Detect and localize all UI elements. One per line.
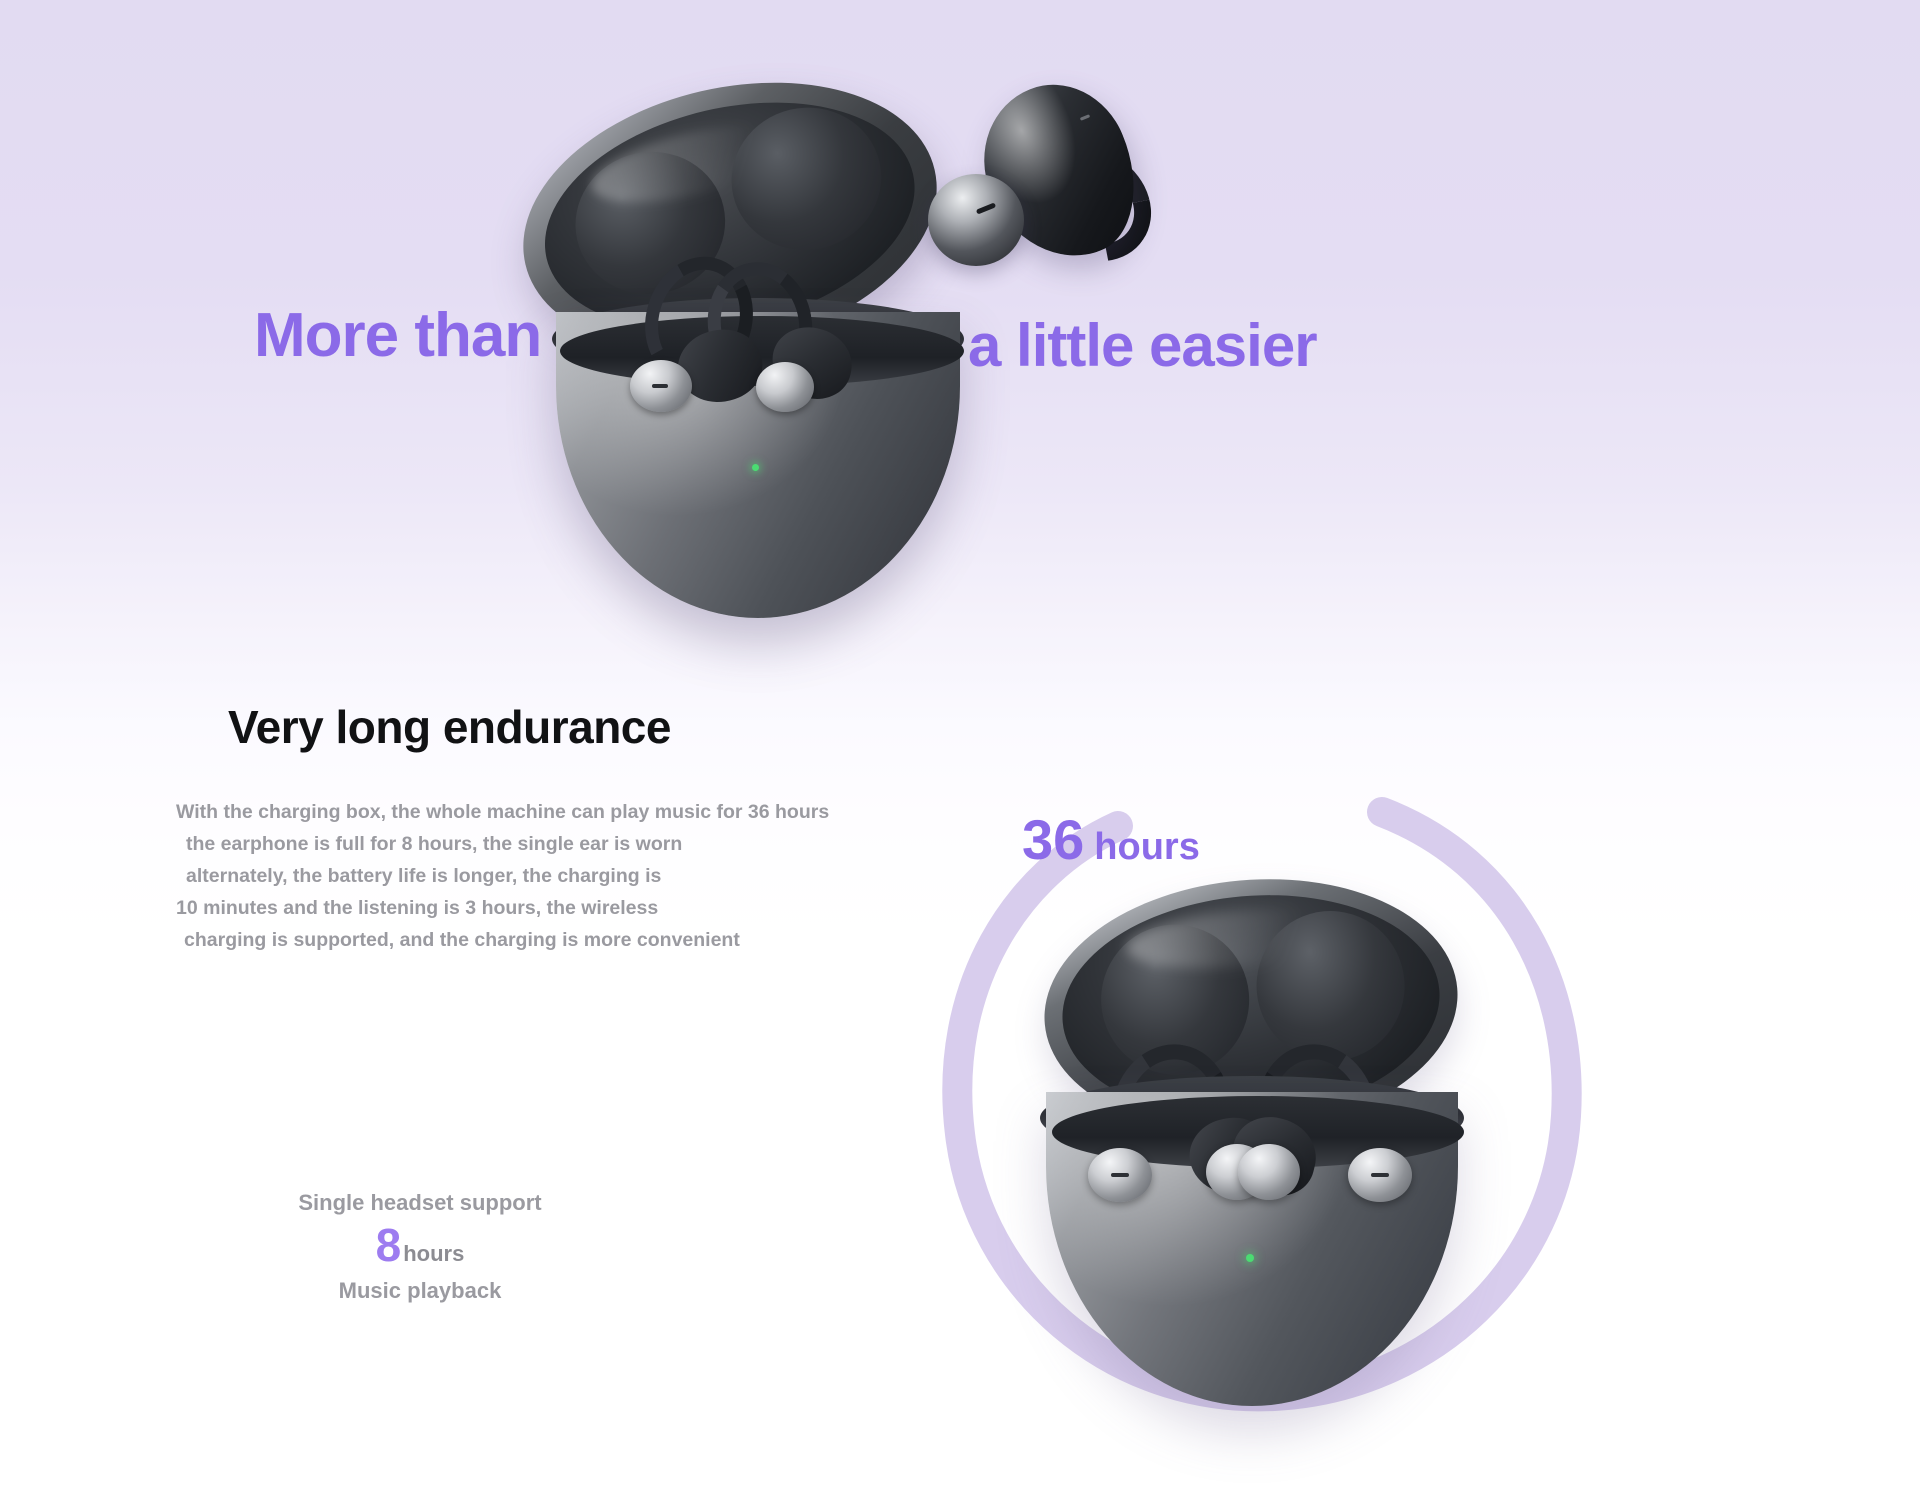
status-led-indicator bbox=[752, 464, 759, 471]
endurance-description: With the charging box, the whole machine… bbox=[176, 796, 996, 956]
stat-subcaption: Music playback bbox=[250, 1278, 590, 1304]
hero-headline-left: More than bbox=[254, 305, 541, 367]
body-line-5: charging is supported, and the charging … bbox=[176, 924, 996, 956]
case2-status-led bbox=[1246, 1254, 1254, 1262]
badge-36-number: 36 bbox=[1022, 808, 1084, 871]
stat-number: 8 bbox=[376, 1219, 402, 1271]
earbud-slot-left bbox=[652, 384, 668, 388]
earbud-tip-right bbox=[756, 362, 814, 412]
earbud-tip-left bbox=[630, 360, 692, 412]
floating-earbud-tip bbox=[928, 174, 1024, 266]
body-line-2: the earphone is full for 8 hours, the si… bbox=[176, 828, 996, 860]
case2-earbud-tip-outer-left bbox=[1088, 1148, 1152, 1202]
hero-headline-right: a little easier bbox=[968, 316, 1317, 376]
product-page: More than a little easier Very long endu… bbox=[0, 0, 1920, 1512]
badge-36-unit: hours bbox=[1094, 826, 1200, 868]
single-headset-stat: Single headset support 8hours Music play… bbox=[250, 1190, 590, 1304]
case2-earbud-tip-inner-right bbox=[1238, 1144, 1300, 1200]
badge-36-hours: 36hours bbox=[1022, 812, 1200, 868]
stat-unit: hours bbox=[403, 1241, 464, 1266]
floating-earbud bbox=[932, 78, 1192, 288]
body-line-4: 10 minutes and the listening is 3 hours,… bbox=[176, 892, 996, 924]
case2-slot-left bbox=[1111, 1173, 1129, 1177]
stat-caption: Single headset support bbox=[250, 1190, 590, 1216]
stat-value-row: 8hours bbox=[250, 1222, 590, 1268]
case2-slot-right bbox=[1371, 1173, 1389, 1177]
endurance-product-image bbox=[1040, 880, 1600, 1420]
body-line-1: With the charging box, the whole machine… bbox=[176, 796, 996, 828]
body-line-3: alternately, the battery life is longer,… bbox=[176, 860, 996, 892]
case2-earbud-tip-outer-right bbox=[1348, 1148, 1412, 1202]
section-title-endurance: Very long endurance bbox=[228, 700, 671, 754]
